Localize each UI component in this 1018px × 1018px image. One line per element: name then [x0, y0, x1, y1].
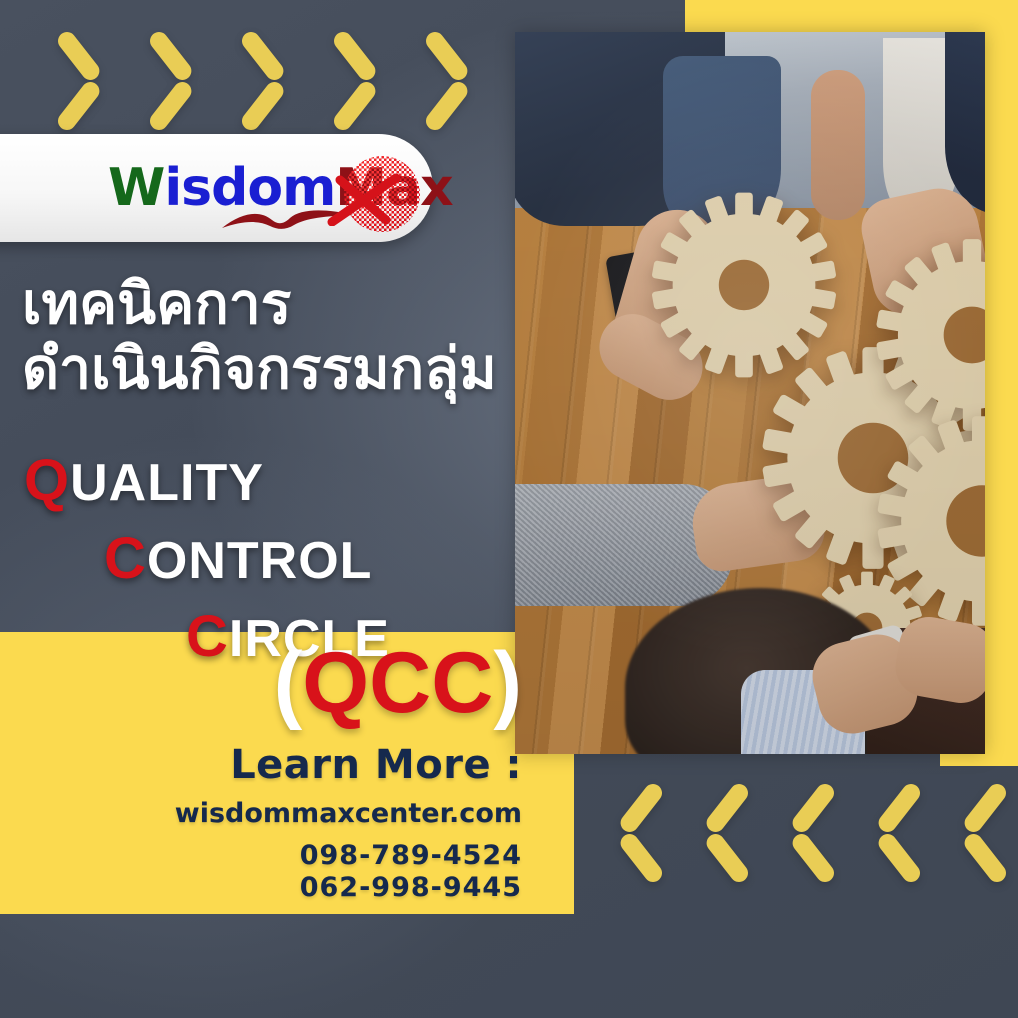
acronym-rest-control: ONTROL: [147, 532, 373, 590]
chevron-left-icon: [696, 782, 758, 872]
logo-letter-w: W: [108, 158, 164, 218]
poster-canvas: WisdomMax เทคนิคการ ดำเนินกิจกรรมกลุ่ม Q…: [0, 0, 1018, 1018]
brand-logo-text: WisdomMax: [108, 162, 453, 214]
phone-number-2[interactable]: 062-998-9445: [0, 872, 556, 903]
acronym-cap-c1: C: [104, 526, 147, 591]
chevron-right-group: [52, 30, 482, 120]
title-line-2: ดำเนินกิจกรรมกลุ่ม: [22, 337, 497, 402]
chevron-right-icon: [420, 30, 482, 120]
chevron-left-group: [610, 782, 1016, 872]
chevron-right-icon: [328, 30, 390, 120]
chevron-right-icon: [236, 30, 298, 120]
page-title: เทคนิคการ ดำเนินกิจกรรมกลุ่ม: [22, 272, 497, 402]
website-link[interactable]: wisdommaxcenter.com: [0, 798, 556, 829]
acronym-line-quality: QUALITY: [0, 452, 560, 510]
chevron-right-icon: [52, 30, 114, 120]
learn-more-label: Learn More :: [0, 742, 556, 788]
acronym-cap-q: Q: [24, 448, 70, 513]
paren-close: ): [493, 635, 522, 731]
logo-letter-x: x: [420, 158, 453, 218]
paren-open: (: [274, 635, 303, 731]
chevron-left-icon: [782, 782, 844, 872]
chevron-left-icon: [868, 782, 930, 872]
acronym-short-code: QCC: [302, 635, 493, 731]
phone-number-1[interactable]: 098-789-4524: [0, 840, 556, 871]
logo-halftone-sphere-icon: [344, 156, 420, 232]
title-line-1: เทคนิคการ: [22, 272, 497, 337]
acronym-badge: (QCC): [0, 640, 556, 726]
brand-logo[interactable]: WisdomMax: [108, 150, 453, 226]
chevron-left-icon: [610, 782, 672, 872]
acronym-line-control: CONTROL: [0, 530, 560, 588]
logo-text-isdom: isdom: [164, 158, 335, 218]
acronym-rest-quality: UALITY: [70, 454, 264, 512]
hero-photo: [515, 32, 985, 754]
chevron-left-icon: [954, 782, 1016, 872]
chevron-right-icon: [144, 30, 206, 120]
